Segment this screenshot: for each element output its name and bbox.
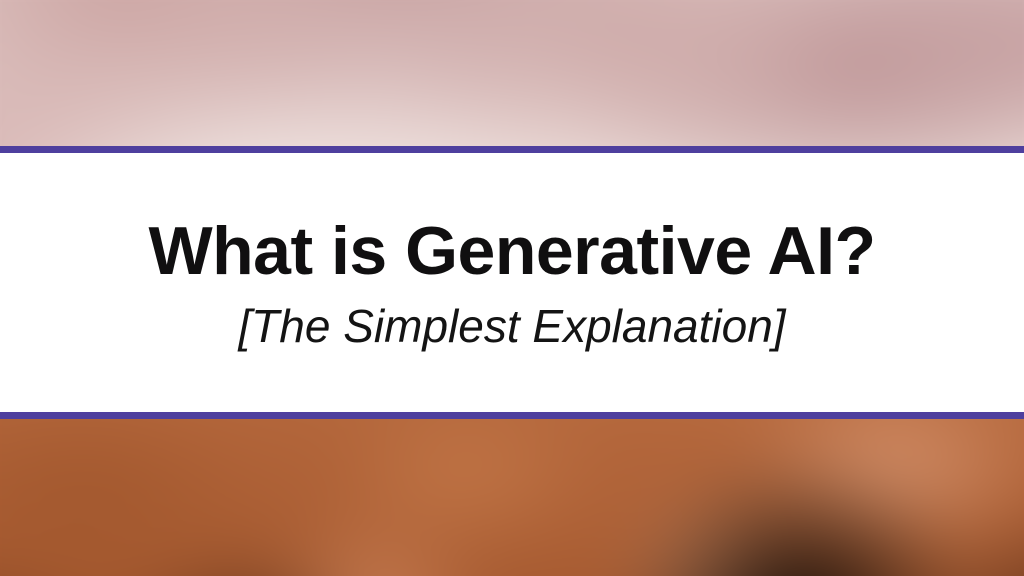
slide: What is Generative AI? [The Simplest Exp… xyxy=(0,0,1024,576)
page-subtitle: [The Simplest Explanation] xyxy=(238,303,785,349)
background-image-bottom xyxy=(0,419,1024,576)
accent-rule-bottom xyxy=(0,412,1024,419)
blurred-orange-photo xyxy=(0,419,1024,576)
accent-rule-top xyxy=(0,146,1024,153)
background-image-top xyxy=(0,0,1024,147)
title-card: What is Generative AI? [The Simplest Exp… xyxy=(0,153,1024,412)
blurred-pink-photo xyxy=(0,0,1024,147)
page-title: What is Generative AI? xyxy=(148,217,875,285)
